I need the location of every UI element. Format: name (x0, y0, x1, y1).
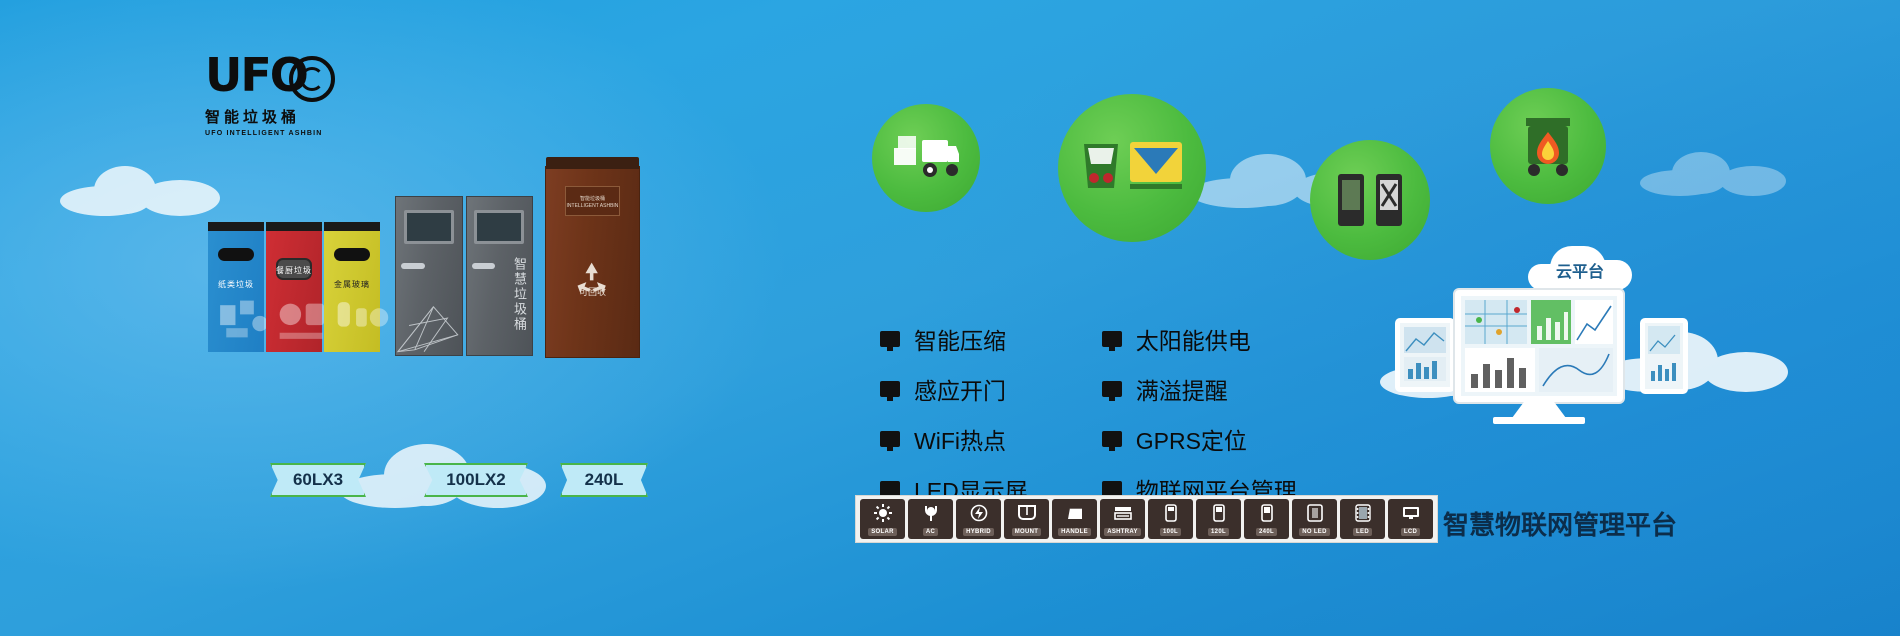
solar-circle (1058, 94, 1206, 242)
spec-icon-solar: SOLAR (860, 499, 905, 539)
logo-chinese-name: 智能垃圾桶 (205, 106, 335, 127)
bin-slot (218, 248, 254, 261)
compaction-circle (872, 104, 980, 212)
ashtray-icon (1100, 503, 1145, 523)
capacity-tag-240l: 240L (560, 463, 648, 497)
bin-compartment-paper: 纸类垃圾 (208, 222, 264, 352)
bin-compartment-label: 纸类垃圾 (208, 279, 264, 290)
desktop-monitor (1455, 290, 1623, 402)
cloud-decoration (1640, 150, 1790, 198)
capacity-tag-label: 240L (585, 470, 624, 490)
compactor-vertical-label: 智慧垃圾桶 (510, 257, 529, 332)
spec-icon-no-led: NO LED (1292, 499, 1337, 539)
spec-icon-led: LED (1340, 499, 1385, 539)
spec-icon-label: NO LED (1299, 528, 1329, 536)
spec-icon-label: 240L (1256, 528, 1277, 536)
twin-bin-icon (1332, 168, 1408, 232)
monitor-bullet-icon (880, 431, 900, 447)
solar-panel-bin-icon (1078, 132, 1186, 204)
compactor-truck-icon (892, 132, 960, 184)
spec-icon-label: MOUNT (1012, 528, 1042, 536)
feature-item: 太阳能供电 (1102, 322, 1297, 356)
monitor-bullet-icon (1102, 381, 1122, 397)
spec-icon-100l: 100L (1148, 499, 1193, 539)
plug-icon (908, 503, 953, 523)
spec-icon-label: 100L (1160, 528, 1181, 536)
bin-100l-icon (1148, 503, 1193, 523)
feature-label: 智能压缩 (914, 322, 1006, 356)
display-screen (404, 210, 454, 245)
logo-english-name: UFO INTELLIGENT ASHBIN (205, 130, 335, 137)
bin-nameplate-text: 智能垃圾桶 INTELLIGENT ASHBIN (566, 187, 620, 210)
spec-icon-label: LED (1353, 528, 1372, 536)
feature-list: 智能压缩 感应开门 WiFi热点 LED显示屏 太阳能供电 满溢提醒 (880, 322, 1297, 506)
feature-label: 感应开门 (914, 372, 1006, 406)
feature-column-left: 智能压缩 感应开门 WiFi热点 LED显示屏 (880, 322, 1028, 506)
spec-icon-240l: 240L (1244, 499, 1289, 539)
capacity-tag-100lx2: 100LX2 (424, 463, 528, 497)
feature-label: 太阳能供电 (1136, 322, 1251, 356)
monitor-screen (1461, 296, 1617, 396)
sun-icon (860, 503, 905, 523)
led-icon (1340, 503, 1385, 523)
bin-slot (334, 248, 370, 261)
no-led-icon (1292, 503, 1337, 523)
bin-120l-icon (1196, 503, 1241, 523)
phone-screen (1645, 323, 1683, 389)
feature-item: WiFi热点 (880, 422, 1028, 456)
brand-logo: UFO 智能垃圾桶 UFO INTELLIGENT ASHBIN (205, 52, 335, 144)
feature-label: 满溢提醒 (1136, 372, 1228, 406)
spec-icon-label: SOLAR (868, 528, 897, 536)
wall-mount-icon (1004, 503, 1049, 523)
feature-item: 感应开门 (880, 372, 1028, 406)
spec-icon-handle: HANDLE (1052, 499, 1097, 539)
monitor-bullet-icon (1102, 431, 1122, 447)
feature-item: 智能压缩 (880, 322, 1028, 356)
spec-icon-label: HANDLE (1058, 528, 1091, 536)
compactor-door-right: 智慧垃圾桶 (466, 196, 534, 356)
spec-icon-label: 120L (1208, 528, 1229, 536)
cloud-platform-label: 云平台 (1528, 258, 1632, 282)
door-handle (472, 263, 496, 269)
twin-bin-circle (1310, 140, 1430, 260)
hybrid-power-icon (956, 503, 1001, 523)
smartphone-device (1640, 318, 1688, 394)
cloud-decoration (1600, 330, 1790, 394)
decorative-mesh (396, 268, 462, 355)
bin-compartment-kitchen: 餐厨垃圾 (266, 222, 322, 352)
platform-title: 智慧物联网管理平台 (1395, 505, 1725, 542)
spec-icon-label: ASHTRAY (1104, 528, 1141, 536)
monitor-base (1493, 417, 1585, 424)
spec-icon-ashtray: ASHTRAY (1100, 499, 1145, 539)
cloud-decoration (60, 160, 230, 220)
spec-icon-label: AC (923, 528, 938, 536)
bin-graphic (330, 296, 391, 342)
capacity-tag-60lx3: 60LX3 (270, 463, 366, 497)
bin-nameplate: 智能垃圾桶 INTELLIGENT ASHBIN (565, 186, 621, 216)
display-screen (474, 210, 524, 245)
cloud-platform-badge: 云平台 (1528, 246, 1632, 290)
feature-label: WiFi热点 (914, 422, 1006, 456)
recycle-bin-product: 智能垃圾桶 INTELLIGENT ASHBIN 可回收 (545, 166, 640, 358)
monitor-stand (1512, 402, 1566, 418)
spec-icon-label: HYBRID (963, 528, 994, 536)
monitor-bullet-icon (880, 381, 900, 397)
bin-compartment-metal-glass: 金属玻璃 (324, 222, 380, 352)
compactor-door-left (395, 196, 463, 356)
fire-alarm-circle (1490, 88, 1606, 204)
ring-icon (289, 56, 335, 102)
spec-icon-strip: SOLAR AC HYBRID MOUNT (855, 495, 1438, 543)
handle-icon (1052, 503, 1097, 523)
spec-icon-hybrid: HYBRID (956, 499, 1001, 539)
feature-item: 满溢提醒 (1102, 372, 1297, 406)
tablet-device (1395, 318, 1455, 392)
spec-icon-mount: MOUNT (1004, 499, 1049, 539)
bin-lid (546, 157, 639, 169)
tablet-screen (1400, 323, 1450, 387)
recycle-label: 可回收 (546, 285, 639, 298)
feature-item: GPRS定位 (1102, 422, 1297, 456)
monitor-bullet-icon (1102, 331, 1122, 347)
spec-icon-ac: AC (908, 499, 953, 539)
sorting-bin-product: 纸类垃圾 餐厨垃圾 金属玻璃 (208, 222, 380, 352)
promotional-banner: UFO 智能垃圾桶 UFO INTELLIGENT ASHBIN 纸类垃圾 餐厨… (0, 0, 1900, 636)
compactor-bin-product: 智慧垃圾桶 (395, 196, 533, 356)
capacity-tag-label: 60LX3 (293, 470, 343, 490)
monitor-bullet-icon (880, 331, 900, 347)
bin-compartment-label: 金属玻璃 (324, 279, 380, 290)
capacity-tag-label: 100LX2 (446, 470, 506, 490)
bin-compartment-label: 餐厨垃圾 (266, 265, 322, 276)
feature-label: GPRS定位 (1136, 422, 1247, 456)
fire-detection-icon (1512, 114, 1584, 178)
bin-240l-icon (1244, 503, 1289, 523)
feature-column-right: 太阳能供电 满溢提醒 GPRS定位 物联网平台管理 (1102, 322, 1297, 506)
spec-icon-120l: 120L (1196, 499, 1241, 539)
